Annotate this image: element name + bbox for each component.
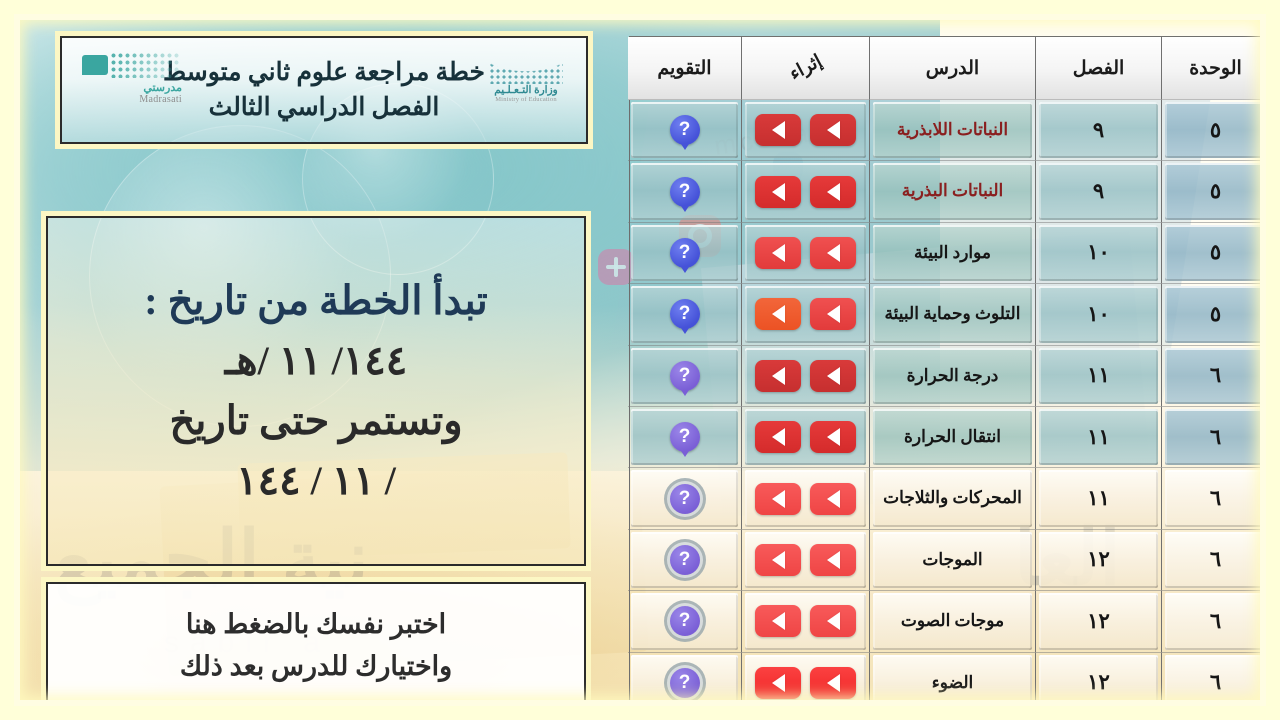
page-title-line2: الفصل الدراسي الثالث [163,90,485,126]
table-row: ٥١٠موارد البيئة? [628,223,1269,284]
play-triangle-icon [772,490,785,508]
cell-surface: ٥ [1165,286,1266,342]
cell-unit: ٦ [1161,407,1269,468]
table-row: ٦١٢موجات الصوت? [628,591,1269,652]
play-video-button-2[interactable] [755,298,801,330]
cell-chapter: ١٢ [1035,591,1161,652]
assessment-quiz-button[interactable]: ? [670,115,700,145]
play-triangle-icon [827,490,840,508]
play-triangle-icon [827,244,840,262]
cell-surface: ? [631,470,738,526]
play-video-button-2[interactable] [755,483,801,515]
cell-surface: ٦ [1165,532,1266,588]
play-video-button-1[interactable] [810,605,856,637]
plan-start-date: ١٤٤/ ١١ /هـ [144,331,487,391]
cell-assessment: ? [628,284,741,345]
column-header-enrichment: إثراء [741,37,869,100]
cell-enrichment [741,407,869,468]
cell-surface: ١٢ [1039,532,1158,588]
madrasati-logo: مدرستي Madrasati [74,50,182,106]
self-test-line1: اختبر نفسك بالضغط هنا [180,604,452,646]
cell-assessment: ? [628,653,741,714]
column-header-assessment: التقويم [628,37,741,100]
title-panel: مدرستي Madrasati خطة مراجعة علوم ثاني مت… [60,36,588,144]
enrichment-video-links [755,421,856,453]
cell-surface: ٦ [1165,409,1266,465]
enrichment-video-links [755,483,856,515]
cell-surface: ٩ [1039,163,1158,219]
chapter-value: ١١ [1087,363,1110,388]
cell-lesson: موجات الصوت [869,591,1035,652]
cell-surface: ? [631,409,738,465]
cell-surface [745,163,866,219]
cell-chapter: ١١ [1035,468,1161,529]
cell-surface: موجات الصوت [873,593,1032,649]
enrichment-video-links [755,360,856,392]
unit-value: ٦ [1210,547,1221,572]
self-test-instruction-panel[interactable]: اختبر نفسك بالضغط هنا واختيارك للدرس بعد… [46,582,586,710]
cell-surface [745,348,866,404]
assessment-quiz-button[interactable]: ? [670,361,700,391]
self-test-line2: واختيارك للدرس بعد ذلك [180,646,452,688]
cell-surface [745,225,866,281]
cell-lesson: الضوء [869,653,1035,714]
plan-start-label: تبدأ الخطة من تاريخ : [144,271,487,331]
play-triangle-icon [772,183,785,201]
cell-chapter: ٩ [1035,161,1161,222]
cell-unit: ٦ [1161,653,1269,714]
lesson-name: الموجات [914,550,990,570]
unit-value: ٥ [1210,118,1221,143]
plan-end-date: / ١١ / ١٤٤ [144,451,487,511]
unit-value: ٦ [1210,609,1221,634]
cell-surface: التلوث وحماية البيئة [873,286,1032,342]
play-video-button-2[interactable] [755,176,801,208]
play-video-button-1[interactable] [810,360,856,392]
play-triangle-icon [772,121,785,139]
play-triangle-icon [827,428,840,446]
enrichment-video-links [755,237,856,269]
chapter-value: ١٢ [1087,547,1110,572]
play-video-button-1[interactable] [810,298,856,330]
cell-surface: موارد البيئة [873,225,1032,281]
table-row: ٦١١انتقال الحرارة? [628,407,1269,468]
assessment-quiz-button[interactable]: ? [670,484,700,514]
chapter-value: ١٢ [1087,670,1110,695]
lesson-name: النباتات البذرية [894,181,1012,201]
table-row: ٦١٢الضوء? [628,653,1269,714]
play-triangle-icon [772,428,785,446]
cell-surface [745,409,866,465]
table-row: ٦١١المحركات والثلاجات? [628,468,1269,529]
cell-surface [745,532,866,588]
play-triangle-icon [827,367,840,385]
assessment-quiz-button[interactable]: ? [670,238,700,268]
play-triangle-icon [827,121,840,139]
chapter-value: ١٠ [1087,240,1110,265]
assessment-quiz-button[interactable]: ? [670,668,700,698]
cell-lesson: موارد البيئة [869,223,1035,284]
cell-lesson: التلوث وحماية البيئة [869,284,1035,345]
cell-chapter: ١١ [1035,407,1161,468]
page-title-line1: خطة مراجعة علوم ثاني متوسط [163,59,485,86]
cell-enrichment [741,591,869,652]
play-video-button-1[interactable] [810,176,856,208]
unit-value: ٦ [1210,425,1221,450]
cell-surface: ? [631,348,738,404]
plan-dates-text: تبدأ الخطة من تاريخ : ١٤٤/ ١١ /هـ وتستمر… [122,271,509,511]
cell-assessment: ? [628,161,741,222]
lesson-name: المحركات والثلاجات [875,488,1030,508]
table-row: ٥١٠التلوث وحماية البيئة? [628,284,1269,345]
cell-chapter: ١٠ [1035,223,1161,284]
cell-lesson: انتقال الحرارة [869,407,1035,468]
play-triangle-icon [772,367,785,385]
enrichment-video-links [755,176,856,208]
unit-value: ٥ [1210,240,1221,265]
chapter-value: ١١ [1087,425,1110,450]
cell-unit: ٥ [1161,100,1269,161]
cell-surface: ٥ [1165,163,1266,219]
chapter-value: ٩ [1093,118,1104,143]
assessment-quiz-button[interactable]: ? [670,422,700,452]
play-video-button-1[interactable] [810,483,856,515]
play-triangle-icon [772,305,785,323]
table-body: ٥٩النباتات اللابذرية?٥٩النباتات البذرية?… [628,100,1269,714]
play-video-button-1[interactable] [810,114,856,146]
cell-surface: ٦ [1165,470,1266,526]
chapter-value: ١٢ [1087,609,1110,634]
lesson-name: الضوء [924,673,981,693]
chapter-value: ٩ [1093,179,1104,204]
lesson-name: التلوث وحماية البيئة [877,304,1029,324]
lesson-name: النباتات اللابذرية [889,120,1016,140]
enrichment-video-links [755,605,856,637]
cell-surface: ? [631,593,738,649]
play-triangle-icon [827,674,840,692]
cell-surface: ١١ [1039,409,1158,465]
cell-assessment: ? [628,407,741,468]
self-test-instruction-text: اختبر نفسك بالضغط هنا واختيارك للدرس بعد… [180,604,452,688]
cell-unit: ٥ [1161,161,1269,222]
cell-unit: ٦ [1161,591,1269,652]
enrichment-video-links [755,114,856,146]
cell-unit: ٦ [1161,468,1269,529]
assessment-quiz-button[interactable]: ? [670,545,700,575]
cell-surface: ١٢ [1039,593,1158,649]
play-video-button-2[interactable] [755,237,801,269]
cell-surface: ٦ [1165,655,1266,711]
cell-surface: ٥ [1165,102,1266,158]
enrichment-video-links [755,298,856,330]
cell-assessment: ? [628,468,741,529]
chapter-value: ١١ [1087,486,1110,511]
cell-surface: الضوء [873,655,1032,711]
assessment-quiz-button[interactable]: ? [670,177,700,207]
cell-assessment: ? [628,223,741,284]
slide-root: mcbaa نية الجميع العا sabir a مدرستي Mad… [0,0,1280,720]
play-triangle-icon [827,612,840,630]
lesson-name: موجات الصوت [893,611,1012,631]
play-video-button-1[interactable] [810,237,856,269]
table-row: ٥٩النباتات اللابذرية? [628,100,1269,161]
cell-surface [745,593,866,649]
unit-value: ٥ [1210,302,1221,327]
play-triangle-icon [827,183,840,201]
cell-surface [745,286,866,342]
cell-enrichment [741,100,869,161]
cell-surface: النباتات اللابذرية [873,102,1032,158]
cell-surface: درجة الحرارة [873,348,1032,404]
unit-value: ٦ [1210,670,1221,695]
unit-value: ٦ [1210,363,1221,388]
lesson-name: موارد البيئة [906,243,999,263]
lesson-name: انتقال الحرارة [896,427,1009,447]
enrichment-video-links [755,667,856,699]
table-header-row: الوحدة الفصل الدرس إثراء التقويم [628,37,1269,100]
cell-surface: ١٠ [1039,225,1158,281]
cell-lesson: الموجات [869,530,1035,591]
play-video-button-2[interactable] [755,605,801,637]
play-video-button-2[interactable] [755,667,801,699]
moe-logo-label-ar: وزارة التـعـلـيم [494,84,557,96]
play-video-button-1[interactable] [810,544,856,576]
cell-surface: ١٠ [1039,286,1158,342]
column-header-enrichment-label: إثراء [786,50,825,84]
cell-lesson: المحركات والثلاجات [869,468,1035,529]
cell-surface: انتقال الحرارة [873,409,1032,465]
column-header-unit: الوحدة [1161,37,1269,100]
cell-surface: الموجات [873,532,1032,588]
cell-unit: ٦ [1161,530,1269,591]
cell-assessment: ? [628,530,741,591]
play-video-button-2[interactable] [755,114,801,146]
cell-surface: ? [631,102,738,158]
cell-surface: ? [631,286,738,342]
unit-value: ٦ [1210,486,1221,511]
lesson-name: درجة الحرارة [899,366,1007,386]
moe-mark-icon [489,56,563,84]
cell-surface: ١١ [1039,348,1158,404]
plan-dates-panel: تبدأ الخطة من تاريخ : ١٤٤/ ١١ /هـ وتستمر… [46,216,586,566]
play-video-button-2[interactable] [755,544,801,576]
chapter-value: ١٠ [1087,302,1110,327]
table-row: ٥٩النباتات البذرية? [628,161,1269,222]
plan-end-label: وتستمر حتى تاريخ [144,391,487,451]
column-header-lesson: الدرس [869,37,1035,100]
cell-surface: ٩ [1039,102,1158,158]
madrasati-block-icon [82,55,108,75]
cell-chapter: ١٢ [1035,530,1161,591]
assessment-quiz-button[interactable]: ? [670,299,700,329]
play-triangle-icon [772,612,785,630]
column-header-chapter: الفصل [1035,37,1161,100]
cell-chapter: ٩ [1035,100,1161,161]
play-triangle-icon [827,551,840,569]
moe-logo-label-en: Ministry of Education [495,96,557,103]
cell-enrichment [741,468,869,529]
cell-unit: ٥ [1161,284,1269,345]
cell-surface: ? [631,225,738,281]
cell-enrichment [741,530,869,591]
cell-lesson: درجة الحرارة [869,346,1035,407]
review-plan-table: الوحدة الفصل الدرس إثراء التقويم ٥٩النبا… [629,36,1270,712]
cell-assessment: ? [628,346,741,407]
cell-surface: ٦ [1165,593,1266,649]
cell-surface: ? [631,163,738,219]
cell-enrichment [741,653,869,714]
assessment-quiz-button[interactable]: ? [670,606,700,636]
cell-surface [745,470,866,526]
play-triangle-icon [827,305,840,323]
madrasati-dots-icon [110,52,180,78]
cell-surface: ٦ [1165,348,1266,404]
madrasati-logo-label-en: Madrasati [139,94,182,105]
play-video-button-2[interactable] [755,360,801,392]
cell-lesson: النباتات البذرية [869,161,1035,222]
cell-chapter: ١٠ [1035,284,1161,345]
cell-surface [745,655,866,711]
cell-enrichment [741,284,869,345]
cell-unit: ٦ [1161,346,1269,407]
cell-surface: ? [631,532,738,588]
play-video-button-1[interactable] [810,421,856,453]
cell-chapter: ١٢ [1035,653,1161,714]
cell-surface: النباتات البذرية [873,163,1032,219]
cell-surface [745,102,866,158]
cell-enrichment [741,161,869,222]
cell-assessment: ? [628,591,741,652]
cell-surface: ١١ [1039,470,1158,526]
cell-assessment: ? [628,100,741,161]
play-triangle-icon [772,551,785,569]
madrasati-logo-label-ar: مدرستي [143,81,182,94]
cell-surface: المحركات والثلاجات [873,470,1032,526]
cell-enrichment [741,346,869,407]
madrasati-mark-icon [82,52,182,80]
unit-value: ٥ [1210,179,1221,204]
play-triangle-icon [772,244,785,262]
cell-unit: ٥ [1161,223,1269,284]
table-row: ٦١١درجة الحرارة? [628,346,1269,407]
cell-surface: ? [631,655,738,711]
play-triangle-icon [772,674,785,692]
ministry-of-education-logo: وزارة التـعـلـيم Ministry of Education [480,48,572,110]
cell-chapter: ١١ [1035,346,1161,407]
cell-surface: ١٢ [1039,655,1158,711]
cell-lesson: النباتات اللابذرية [869,100,1035,161]
cell-enrichment [741,223,869,284]
play-video-button-2[interactable] [755,421,801,453]
enrichment-video-links [755,544,856,576]
cell-surface: ٥ [1165,225,1266,281]
play-video-button-1[interactable] [810,667,856,699]
table-row: ٦١٢الموجات? [628,530,1269,591]
